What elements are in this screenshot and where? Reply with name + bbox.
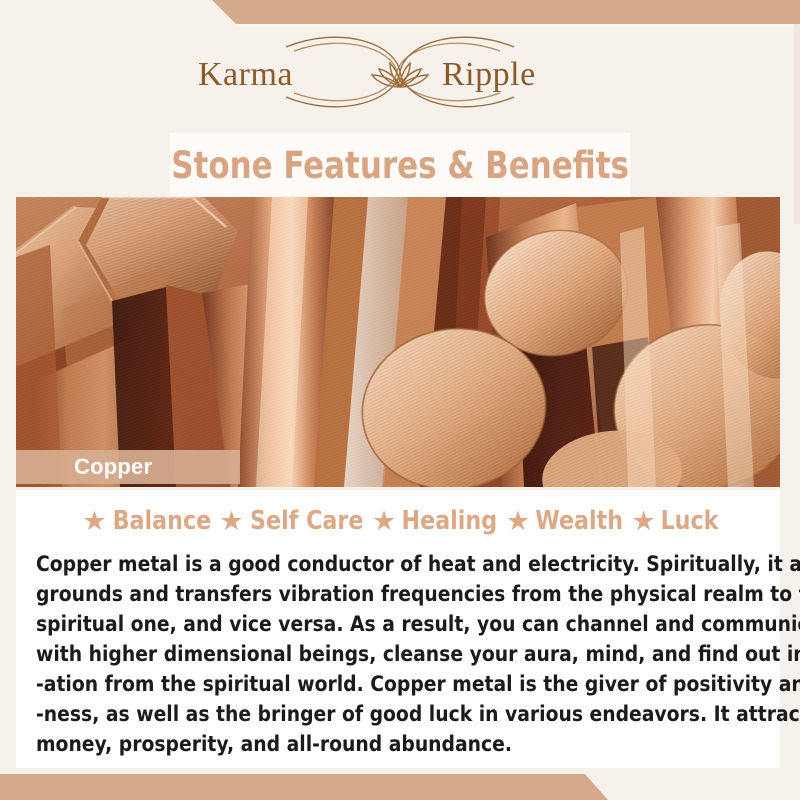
benefit-item: ★ Wealth [500, 506, 626, 536]
description-line: -ness, as well as the bringer of good lu… [36, 700, 738, 730]
top-accent-band-edge [236, 24, 800, 27]
copper-bars-photo [16, 197, 780, 487]
brand-name-left: Karma [198, 56, 293, 93]
benefit-item: ★ Balance [76, 506, 213, 536]
benefit-item: ★ Self Care [213, 506, 366, 536]
brand-logo: Karma Ripple [0, 28, 800, 116]
bottom-accent-band [0, 774, 800, 800]
benefit-label: Balance [112, 506, 211, 536]
description-text: Copper metal is a good conductor of heat… [16, 536, 780, 760]
description-line: money, prosperity, and all-round abundan… [36, 730, 738, 760]
content-card: ★ Balance ★ Self Care ★ Healing ★ Wealth… [16, 490, 780, 768]
lotus-icon [372, 63, 428, 87]
benefit-item: ★ Luck [625, 506, 719, 536]
photo-caption-bar: Copper [16, 450, 240, 484]
infographic-page: Karma Ripple Stone Features & Benefits [0, 0, 800, 800]
description-line: -ation from the spiritual world. Copper … [36, 670, 738, 700]
benefit-label: Self Care [250, 506, 363, 536]
brand-name-right: Ripple [442, 56, 536, 93]
benefit-label: Luck [660, 506, 718, 536]
top-accent-band [0, 0, 800, 24]
benefit-label: Healing [402, 506, 498, 536]
star-icon: ★ [372, 508, 396, 535]
benefit-item: ★ Healing [366, 506, 500, 536]
star-icon: ★ [631, 508, 655, 535]
page-title: Stone Features & Benefits [171, 144, 629, 187]
star-icon: ★ [219, 508, 243, 535]
brand-logo-svg: Karma Ripple [190, 29, 610, 115]
description-line: with higher dimensional beings, cleanse … [36, 640, 738, 670]
star-icon: ★ [82, 508, 106, 535]
benefit-label: Wealth [535, 506, 623, 536]
description-line: Copper metal is a good conductor of heat… [36, 550, 738, 580]
description-line: grounds and transfers vibration frequenc… [36, 580, 738, 610]
star-icon: ★ [506, 508, 530, 535]
photo-caption-label: Copper [16, 454, 152, 480]
benefits-row: ★ Balance ★ Self Care ★ Healing ★ Wealth… [16, 490, 780, 536]
title-banner: Stone Features & Benefits [170, 133, 630, 197]
copper-photo-svg [16, 197, 780, 487]
description-line: spiritual one, and vice versa. As a resu… [36, 610, 738, 640]
